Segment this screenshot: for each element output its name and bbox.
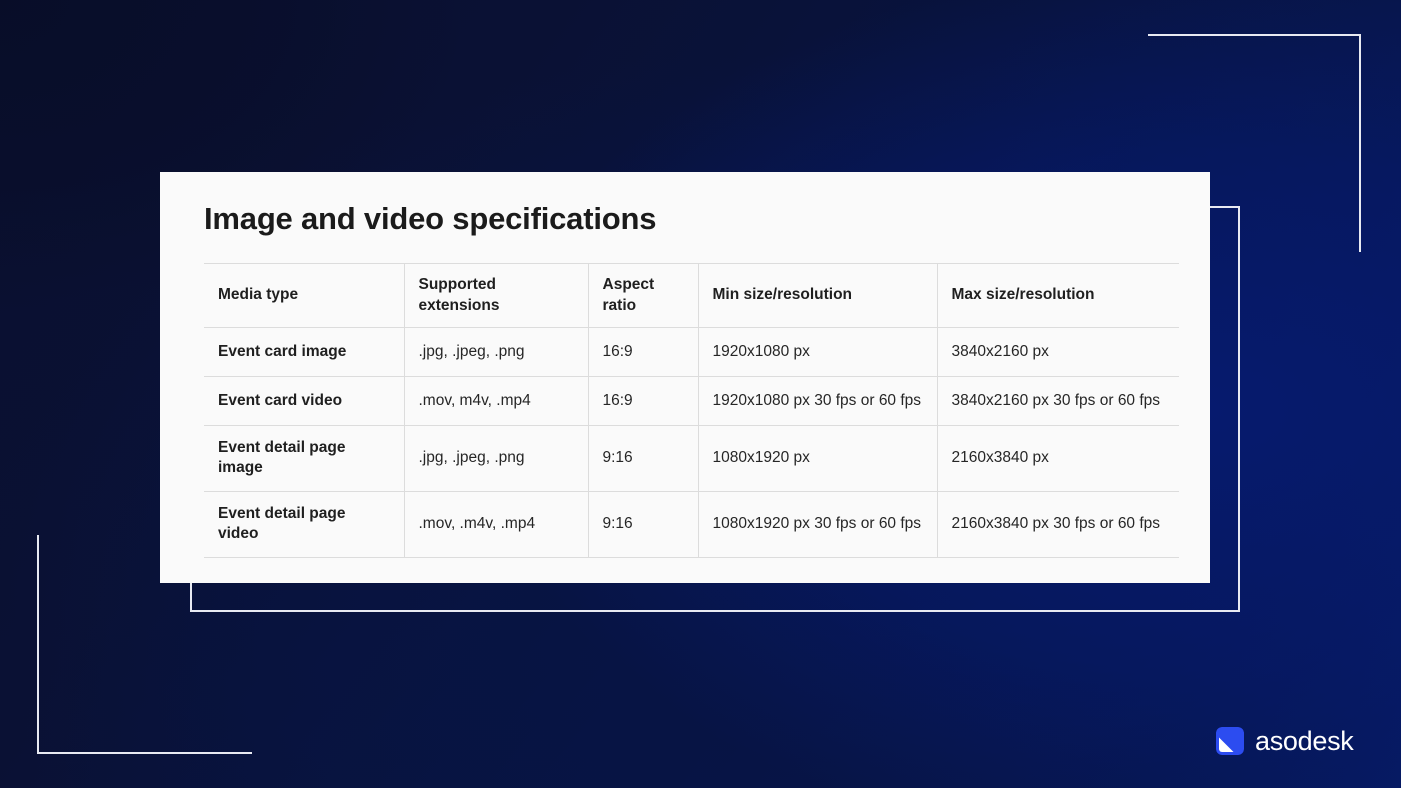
- cell-aspect-ratio: 9:16: [588, 491, 698, 557]
- decor-frame-bottom-left-vertical: [37, 535, 39, 754]
- cell-max-resolution: 3840x2160 px 30 fps or 60 fps: [937, 377, 1179, 426]
- column-header-media-type: Media type: [204, 264, 404, 328]
- cell-min-resolution: 1920x1080 px: [698, 328, 937, 377]
- table-row: Event detail page image .jpg, .jpeg, .pn…: [204, 426, 1179, 492]
- table-header-row: Media type Supported extensions Aspect r…: [204, 264, 1179, 328]
- cell-media-type: Event detail page image: [204, 426, 404, 492]
- page-title: Image and video specifications: [204, 201, 656, 237]
- cell-min-resolution: 1080x1920 px: [698, 426, 937, 492]
- asodesk-logo-mark-icon: [1216, 727, 1244, 755]
- decor-frame-top-right-vertical: [1359, 34, 1361, 252]
- cell-extensions: .jpg, .jpeg, .png: [404, 328, 588, 377]
- cell-aspect-ratio: 9:16: [588, 426, 698, 492]
- cell-aspect-ratio: 16:9: [588, 328, 698, 377]
- table-header: Media type Supported extensions Aspect r…: [204, 264, 1179, 328]
- cell-min-resolution: 1080x1920 px 30 fps or 60 fps: [698, 491, 937, 557]
- column-header-max-resolution: Max size/resolution: [937, 264, 1179, 328]
- cell-min-resolution: 1920x1080 px 30 fps or 60 fps: [698, 377, 937, 426]
- cell-extensions: .jpg, .jpeg, .png: [404, 426, 588, 492]
- cell-max-resolution: 3840x2160 px: [937, 328, 1179, 377]
- table-row: Event card image .jpg, .jpeg, .png 16:9 …: [204, 328, 1179, 377]
- cell-media-type: Event card video: [204, 377, 404, 426]
- column-header-aspect-ratio: Aspect ratio: [588, 264, 698, 328]
- cell-aspect-ratio: 16:9: [588, 377, 698, 426]
- decor-frame-top-right-horizontal: [1148, 34, 1361, 36]
- column-header-min-resolution: Min size/resolution: [698, 264, 937, 328]
- slide-background: Image and video specifications Media typ…: [0, 0, 1401, 788]
- specifications-card: Image and video specifications Media typ…: [160, 172, 1210, 583]
- cell-extensions: .mov, .m4v, .mp4: [404, 491, 588, 557]
- asodesk-logo-text: asodesk: [1255, 728, 1353, 755]
- cell-max-resolution: 2160x3840 px: [937, 426, 1179, 492]
- table-row: Event card video .mov, m4v, .mp4 16:9 19…: [204, 377, 1179, 426]
- cell-media-type: Event detail page video: [204, 491, 404, 557]
- column-header-extensions: Supported extensions: [404, 264, 588, 328]
- asodesk-logo: asodesk: [1216, 727, 1353, 755]
- cell-media-type: Event card image: [204, 328, 404, 377]
- cell-max-resolution: 2160x3840 px 30 fps or 60 fps: [937, 491, 1179, 557]
- decor-frame-bottom-left-horizontal: [37, 752, 252, 754]
- table-body: Event card image .jpg, .jpeg, .png 16:9 …: [204, 328, 1179, 558]
- specifications-table: Media type Supported extensions Aspect r…: [204, 263, 1179, 558]
- table-row: Event detail page video .mov, .m4v, .mp4…: [204, 491, 1179, 557]
- cell-extensions: .mov, m4v, .mp4: [404, 377, 588, 426]
